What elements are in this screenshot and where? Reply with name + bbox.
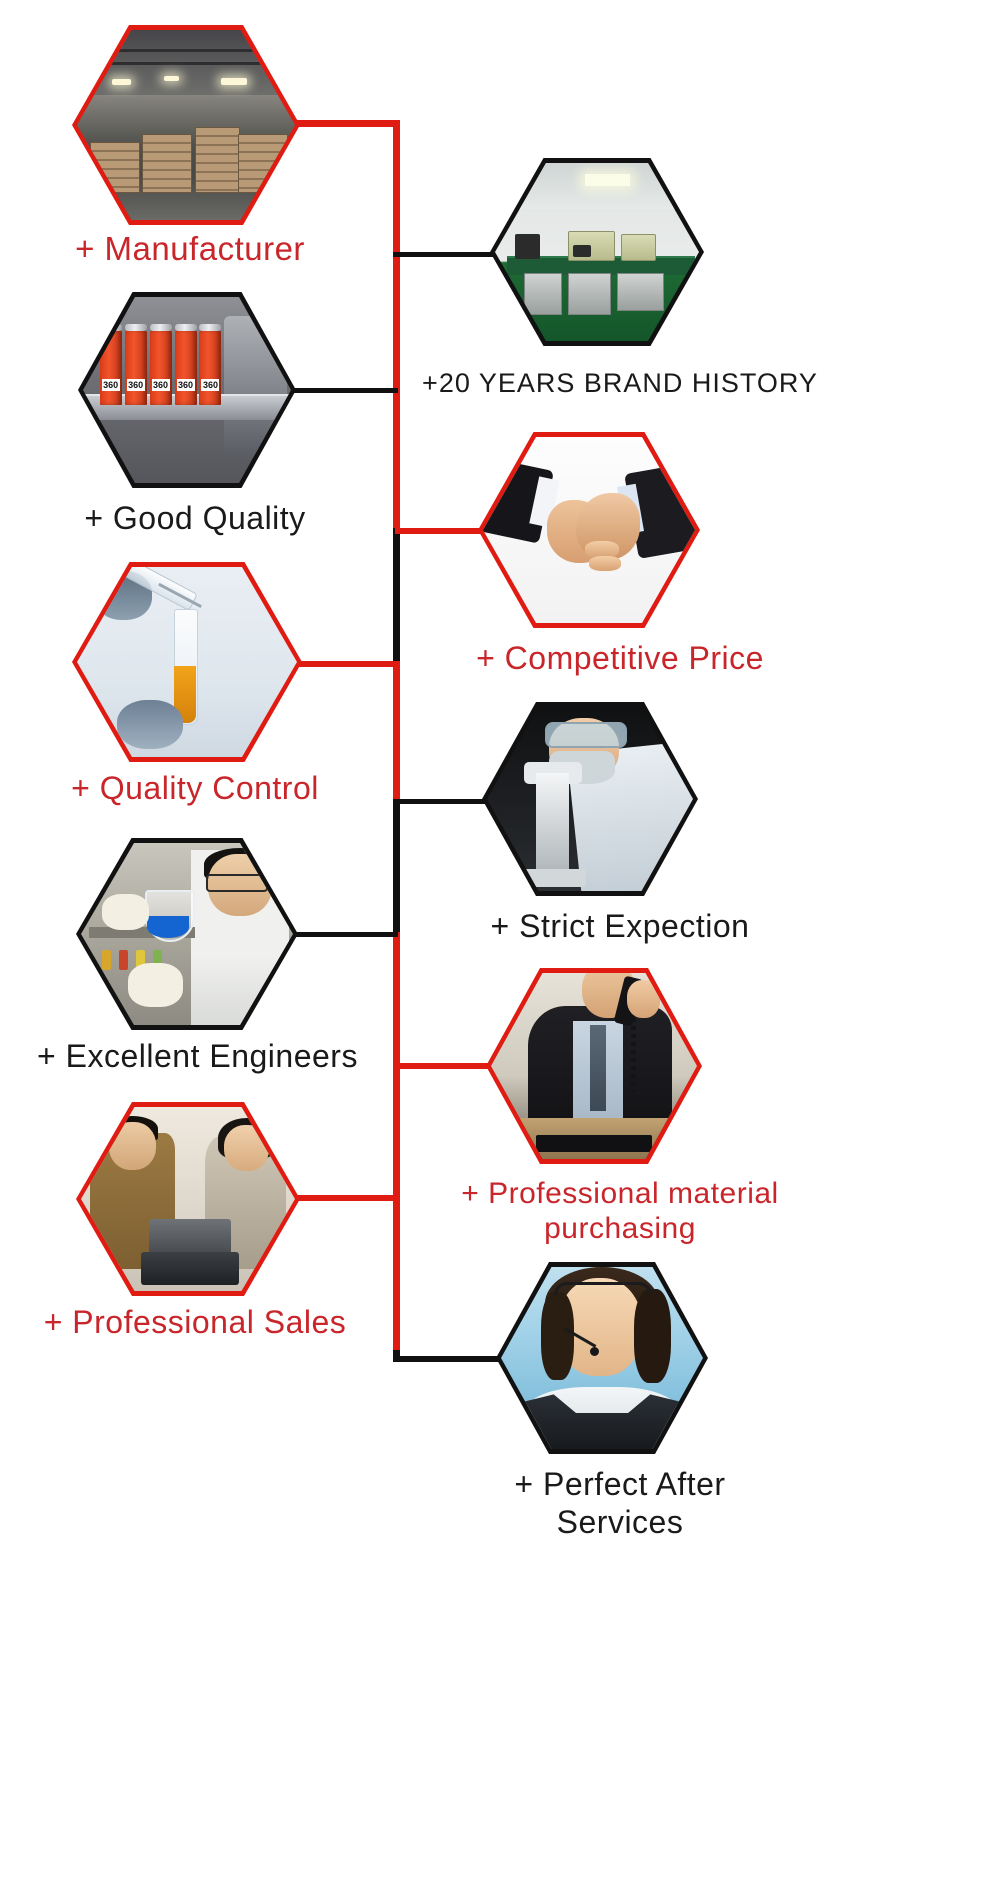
hex-image-strict-expection <box>487 707 693 891</box>
hex-card-professional-sales[interactable] <box>76 1102 300 1296</box>
customer-support-headset-photo <box>501 1267 703 1449</box>
hex-image-excellent-engineers <box>81 843 293 1025</box>
can-label-number: 360 <box>152 379 170 391</box>
can-label-number: 360 <box>102 379 120 391</box>
sales-team-laptop-photo <box>81 1107 295 1291</box>
hex-card-brand-history[interactable] <box>490 158 704 346</box>
hex-image-manufacturer <box>77 30 295 220</box>
syringe-test-tube-photo <box>77 567 297 757</box>
warehouse-storage-photo <box>77 30 295 220</box>
label-brand-history: +20 YEARS BRAND HISTORY <box>410 368 830 400</box>
hex-card-manufacturer[interactable] <box>72 25 300 225</box>
hex-card-good-quality[interactable]: 360 360 360 360 360 <box>78 292 296 488</box>
businessman-phone-call-photo <box>491 973 697 1159</box>
spine-segment-red-mid <box>393 661 400 801</box>
can-label-number: 360 <box>177 379 195 391</box>
label-material-purchasing: + Professional material purchasing <box>420 1176 820 1247</box>
hex-image-material-purchasing <box>491 973 697 1159</box>
label-excellent-engineers: + Excellent Engineers <box>5 1038 390 1076</box>
connector-manufacturer <box>296 120 400 127</box>
hex-card-after-services[interactable] <box>496 1262 708 1454</box>
connector-professional-sales <box>290 1195 398 1201</box>
can-label-number: 360 <box>127 379 145 391</box>
spine-segment-red-bottom <box>393 932 400 1357</box>
laboratory-room-photo <box>495 163 699 341</box>
label-strict-expection: + Strict Expection <box>420 908 820 946</box>
business-handshake-photo <box>483 437 695 623</box>
spine-segment-black-mid <box>393 528 400 663</box>
connector-excellent-engineers <box>290 932 398 937</box>
hex-image-competitive-price <box>483 437 695 623</box>
label-manufacturer: + Manufacturer <box>20 230 360 269</box>
engineer-lab-flask-photo <box>81 843 293 1025</box>
hex-card-competitive-price[interactable] <box>478 432 700 628</box>
hex-image-after-services <box>501 1267 703 1449</box>
hex-card-material-purchasing[interactable] <box>486 968 702 1164</box>
spine-segment-red-top <box>393 120 400 530</box>
connector-after-services <box>393 1356 511 1362</box>
label-competitive-price: + Competitive Price <box>420 640 820 678</box>
label-professional-sales: + Professional Sales <box>5 1304 385 1342</box>
hex-card-quality-control[interactable] <box>72 562 302 762</box>
canning-production-line-photo: 360 360 360 360 360 <box>83 297 291 483</box>
connector-quality-control <box>290 661 398 667</box>
label-after-services: + Perfect After Services <box>420 1466 820 1542</box>
infographic-canvas: + Manufacturer +20 YEARS BRAND HISTORY <box>0 0 1000 1895</box>
microscope-inspection-photo <box>487 707 693 891</box>
hex-card-excellent-engineers[interactable] <box>76 838 298 1030</box>
hex-image-quality-control <box>77 567 297 757</box>
hex-card-strict-expection[interactable] <box>482 702 698 896</box>
hex-image-good-quality: 360 360 360 360 360 <box>83 297 291 483</box>
label-quality-control: + Quality Control <box>10 770 380 808</box>
connector-good-quality <box>290 388 398 393</box>
hex-image-brand-history <box>495 163 699 341</box>
label-good-quality: + Good Quality <box>20 500 370 538</box>
spine-segment-black-lower <box>393 799 400 934</box>
can-label-number: 360 <box>201 379 219 391</box>
hex-image-professional-sales <box>81 1107 295 1291</box>
